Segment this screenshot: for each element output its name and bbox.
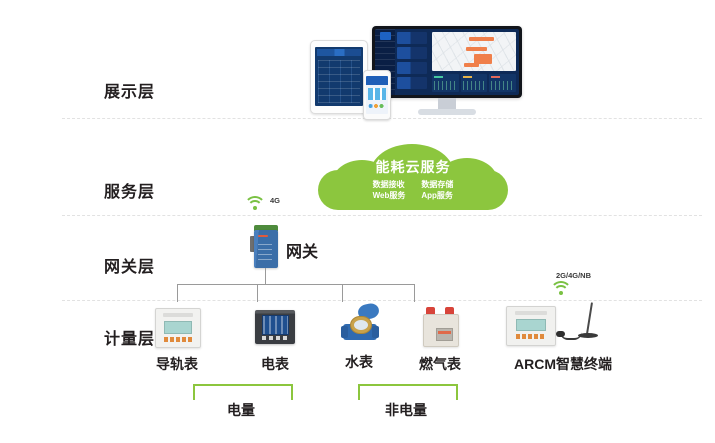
- display-layer-devices: [300, 8, 535, 116]
- dashboard-stat-panel: [461, 74, 488, 92]
- cloud-service-column-right: 数据存储 App服务: [421, 180, 453, 202]
- din-rail-meter-buttons: [164, 337, 192, 342]
- connector-bus: [177, 284, 414, 285]
- gateway-network-tag: 4G: [270, 196, 280, 205]
- antenna-plug: [556, 331, 565, 337]
- gateway-body: [254, 230, 278, 268]
- din-rail-meter-display: [164, 321, 192, 334]
- din-rail-meter-icon: [142, 302, 212, 352]
- non-electric-bracket: [358, 384, 458, 400]
- dashboard-stat-panel: [432, 74, 459, 92]
- gateway-device: [250, 224, 280, 268]
- arcm-network-tag: 2G/4G/NB: [556, 271, 591, 280]
- smartphone-screen: [366, 76, 388, 114]
- monitor-bezel: [372, 26, 522, 98]
- meter-electric: 电表: [240, 302, 310, 374]
- connector-trunk: [265, 268, 266, 284]
- dashboard-stat-panel: [489, 74, 516, 92]
- meter-label-water: 水表: [324, 352, 394, 372]
- meter-label-gas: 燃气表: [405, 354, 475, 374]
- layer-divider-2: [62, 215, 702, 216]
- electric-meter-display: [262, 315, 289, 335]
- cloud-service-columns: 数据接收 Web服务 数据存储 App服务: [373, 180, 454, 202]
- arcm-terminal-icon: [498, 300, 628, 352]
- meter-label-electric: 电表: [240, 354, 310, 374]
- water-meter-body: [341, 304, 379, 348]
- smartphone-app-icons: [368, 101, 386, 111]
- map-annotation: [469, 37, 494, 41]
- dashboard-card: [397, 62, 427, 74]
- gateway-label: 网关: [286, 238, 318, 262]
- monitor-stand-foot: [418, 109, 476, 115]
- meter-gas: 燃气表: [405, 302, 475, 374]
- gateway-wifi-icon: [244, 196, 266, 212]
- dashboard-card: [397, 32, 427, 44]
- meter-din-rail: 导轨表: [142, 302, 212, 374]
- dashboard-main: [429, 29, 519, 95]
- electric-meter-body: [255, 310, 295, 344]
- gas-meter-icon: [405, 302, 475, 352]
- dashboard-map: [432, 32, 516, 71]
- gas-meter-case: [423, 314, 459, 347]
- dashboard-cards: [395, 29, 429, 95]
- layer-label-service: 服务层: [104, 178, 204, 202]
- electric-bracket: [193, 384, 293, 400]
- gas-meter-body: [421, 307, 459, 347]
- arcm-terminal-display: [516, 319, 546, 331]
- connector-branch: [257, 284, 258, 302]
- water-meter-icon: [324, 300, 394, 350]
- monitor-screen: [375, 29, 519, 95]
- cloud-text-group: 能耗云服务 数据接收 Web服务 数据存储 App服务: [318, 144, 508, 210]
- cloud-service-item: 数据接收: [373, 180, 405, 191]
- energy-cloud-service: 能耗云服务 数据接收 Web服务 数据存储 App服务: [318, 144, 508, 210]
- layer-label-display: 展示层: [104, 78, 204, 102]
- dashboard-card: [397, 47, 427, 59]
- smartphone-device: [363, 70, 391, 120]
- gateway-to-meters-connector: [160, 268, 430, 302]
- cloud-service-item: Web服务: [373, 191, 406, 202]
- map-annotation: [464, 63, 479, 67]
- map-annotation: [466, 47, 488, 51]
- arcm-terminal-label: ARCM智慧终端: [498, 354, 628, 374]
- arcm-terminal-body: [506, 306, 556, 346]
- cloud-title: 能耗云服务: [376, 157, 451, 177]
- cloud-service-item: App服务: [421, 191, 453, 202]
- arcm-wifi-icon: [550, 281, 572, 297]
- cloud-service-item: 数据存储: [421, 180, 453, 191]
- water-meter-dial: [350, 316, 372, 334]
- antenna-rod: [586, 302, 593, 334]
- meter-label-din-rail: 导轨表: [142, 354, 212, 374]
- tablet-device: [310, 40, 368, 114]
- dashboard-card: [397, 77, 427, 89]
- cloud-service-column-left: 数据接收 Web服务: [373, 180, 406, 202]
- connector-branch: [414, 284, 415, 302]
- gas-meter-display: [436, 328, 453, 341]
- connector-branch: [177, 284, 178, 302]
- electric-meter-icon: [240, 302, 310, 352]
- arcm-smart-terminal: ARCM智慧终端: [498, 300, 628, 374]
- arcm-terminal-buttons: [516, 334, 546, 339]
- meter-water: 水表: [324, 300, 394, 372]
- architecture-diagram: 展示层 服务层 网关层 计量层: [0, 0, 715, 443]
- tablet-screen: [315, 47, 363, 106]
- dashboard-stats: [432, 74, 516, 92]
- monitor-device: [372, 26, 522, 116]
- electric-meter-buttons: [262, 336, 289, 340]
- non-electric-bracket-label: 非电量: [358, 400, 454, 420]
- din-rail-meter-body: [155, 308, 201, 348]
- electric-bracket-label: 电量: [193, 400, 289, 420]
